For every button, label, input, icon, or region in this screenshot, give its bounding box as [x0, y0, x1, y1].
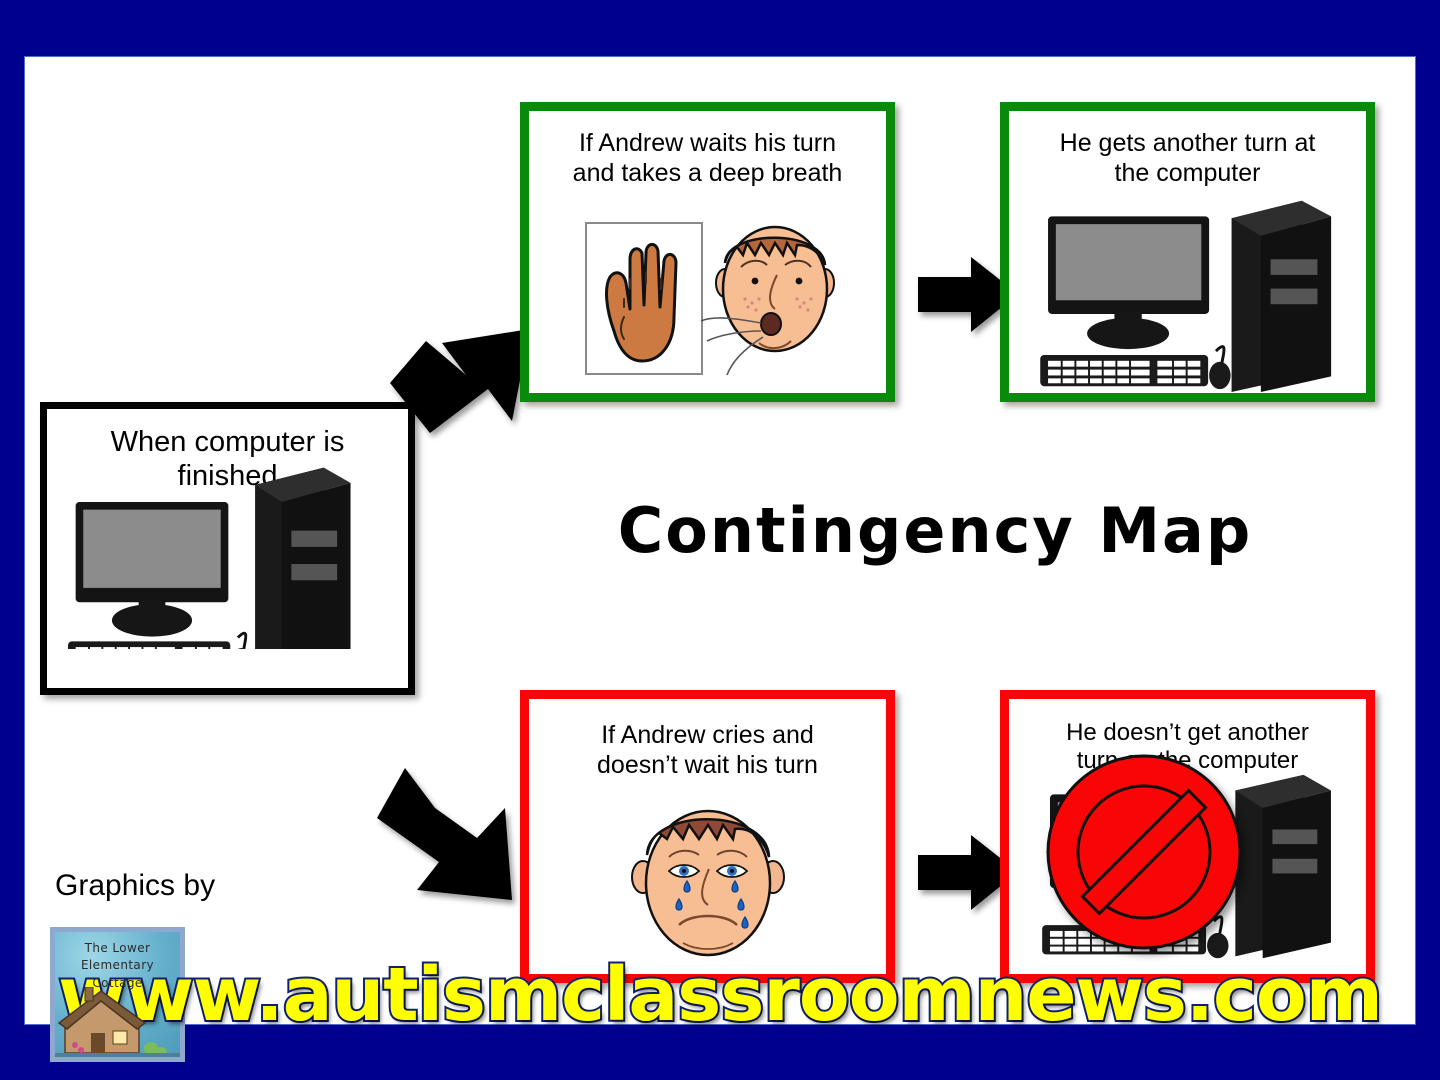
- prohibition-no-sign-icon: [1039, 747, 1249, 957]
- if-positive-caption: If Andrew waits his turn and takes a dee…: [529, 111, 886, 188]
- trigger-card: When computer is finished: [40, 402, 415, 695]
- if-negative-caption: If Andrew cries and doesn’t wait his tur…: [529, 699, 886, 780]
- logo-text: The Lower Elementary Cottage: [55, 932, 180, 992]
- website-watermark: www.autismclassroomnews.com: [0, 952, 1440, 1038]
- if-negative-card: If Andrew cries and doesn’t wait his tur…: [520, 690, 895, 983]
- bent-arrow-down-right-icon: [377, 762, 542, 902]
- open-hand-wait-icon: [584, 221, 704, 376]
- desktop-computer-icon: [1009, 189, 1360, 394]
- publisher-logo: The Lower Elementary Cottage: [50, 927, 185, 1062]
- page-title: Contingency Map: [585, 494, 1285, 567]
- graphics-credit-label: Graphics by: [55, 869, 215, 903]
- desktop-computer-icon: [47, 439, 391, 649]
- boy-blowing-breath-icon: [699, 211, 884, 386]
- then-negative-card: He doesn’t get another turn on the compu…: [1000, 690, 1375, 983]
- cottage-illustration-icon: [55, 987, 180, 1057]
- then-positive-caption: He gets another turn at the computer: [1009, 111, 1366, 188]
- if-positive-card: If Andrew waits his turn and takes a dee…: [520, 102, 895, 402]
- boy-crying-face-icon: [617, 791, 799, 973]
- poster-canvas: When computer is finished: [25, 57, 1415, 1024]
- then-positive-card: He gets another turn at the computer: [1000, 102, 1375, 402]
